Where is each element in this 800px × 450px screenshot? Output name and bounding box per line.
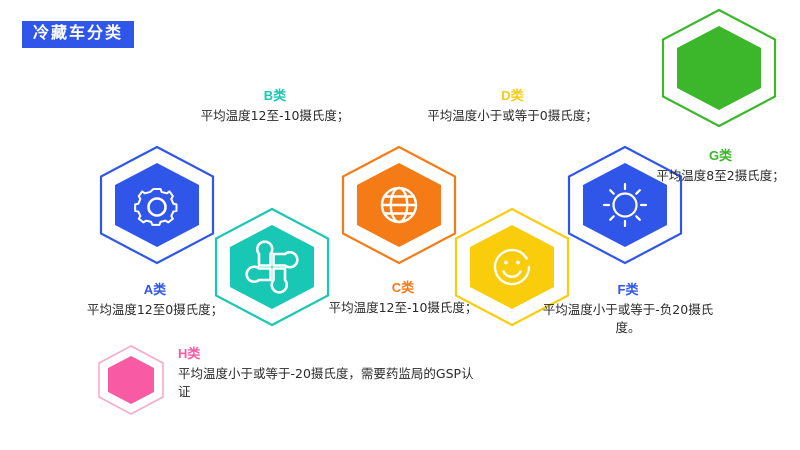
- plain-hexagon-icon: [677, 26, 761, 110]
- category-label-f: F类: [533, 282, 723, 298]
- text-block-category-f: F类 平均温度小于或等于-负20摄氏度。: [533, 282, 723, 338]
- plain-hexagon-icon: [108, 356, 154, 404]
- text-block-category-h: H类 平均温度小于或等于-20摄氏度，需要药监局的GSP认证: [178, 346, 478, 402]
- hexagon-category-c[interactable]: [340, 145, 458, 265]
- category-desc-f: 平均温度小于或等于-负20摄氏度。: [533, 301, 723, 337]
- hexagon-category-g[interactable]: [660, 8, 778, 128]
- category-desc-b: 平均温度12至-10摄氏度；: [180, 107, 370, 125]
- category-label-b: B类: [180, 88, 370, 104]
- page-title-badge: 冷藏车分类: [22, 21, 134, 48]
- text-block-category-d: D类 平均温度小于或等于0摄氏度；: [420, 88, 605, 125]
- category-label-h: H类: [178, 346, 478, 362]
- category-label-g: G类: [648, 148, 793, 164]
- infographic-canvas: 冷藏车分类 A类 平均温度12至0摄氏度； B类: [0, 0, 800, 450]
- hexagon-category-h[interactable]: [96, 344, 166, 416]
- hexagon-category-a[interactable]: [98, 145, 216, 265]
- text-block-category-g: G类 平均温度8至2摄氏度；: [648, 148, 793, 185]
- category-desc-h: 平均温度小于或等于-20摄氏度，需要药监局的GSP认证: [178, 365, 478, 401]
- hexagon-fill-b: [230, 225, 314, 309]
- hexagon-fill-a: [115, 163, 199, 247]
- category-desc-g: 平均温度8至2摄氏度；: [648, 167, 793, 185]
- category-desc-d: 平均温度小于或等于0摄氏度；: [420, 107, 605, 125]
- text-block-category-b: B类 平均温度12至-10摄氏度；: [180, 88, 370, 125]
- category-label-d: D类: [420, 88, 605, 104]
